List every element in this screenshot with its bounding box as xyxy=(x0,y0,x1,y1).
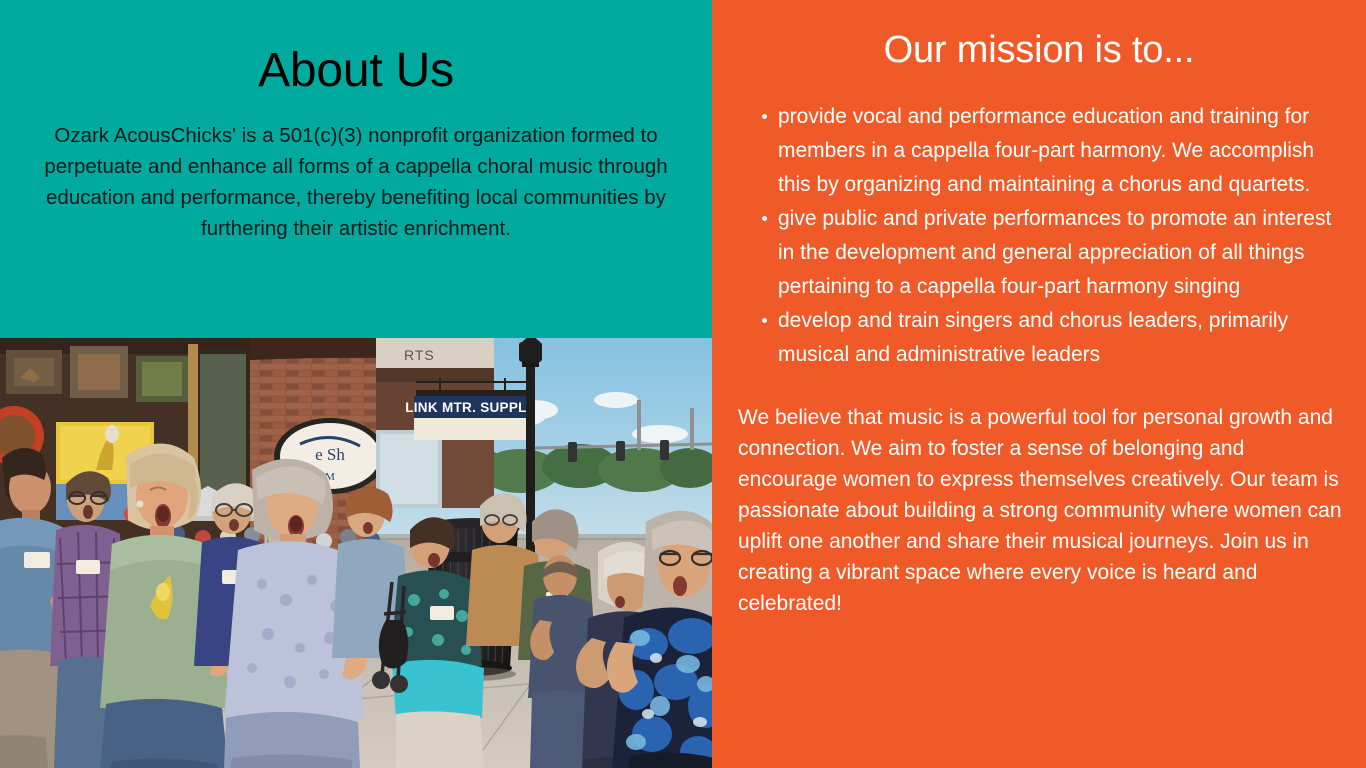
mission-bullet-text: give public and private performances to … xyxy=(778,207,1331,298)
mission-title: Our mission is to... xyxy=(712,30,1366,72)
about-us-slide: About Us Ozark AcousChicks' is a 501(c)(… xyxy=(0,0,1366,768)
mission-bullet-text: provide vocal and performance education … xyxy=(778,105,1314,196)
about-description: Ozark AcousChicks' is a 501(c)(3) nonpro… xyxy=(16,120,696,244)
bullet-dot-icon xyxy=(762,216,767,221)
bullet-dot-icon xyxy=(762,318,767,323)
about-text-block: About Us Ozark AcousChicks' is a 501(c)(… xyxy=(0,0,712,338)
bullet-dot-icon xyxy=(762,114,767,119)
mission-bullet-item: provide vocal and performance education … xyxy=(762,100,1346,202)
chorus-photo: e Sh M RTS LINK MTR. SUPPLY xyxy=(0,338,712,768)
mission-list: provide vocal and performance education … xyxy=(712,100,1366,372)
left-panel: About Us Ozark AcousChicks' is a 501(c)(… xyxy=(0,0,712,768)
chorus-photo-illustration: e Sh M RTS LINK MTR. SUPPLY xyxy=(0,338,712,768)
mission-paragraph: We believe that music is a powerful tool… xyxy=(712,402,1366,619)
mission-bullet-text: develop and train singers and chorus lea… xyxy=(778,309,1288,366)
right-panel: Our mission is to... provide vocal and p… xyxy=(712,0,1366,768)
mission-bullet-item: give public and private performances to … xyxy=(762,202,1346,304)
mission-bullet-item: develop and train singers and chorus lea… xyxy=(762,304,1346,372)
page-title: About Us xyxy=(258,46,454,96)
